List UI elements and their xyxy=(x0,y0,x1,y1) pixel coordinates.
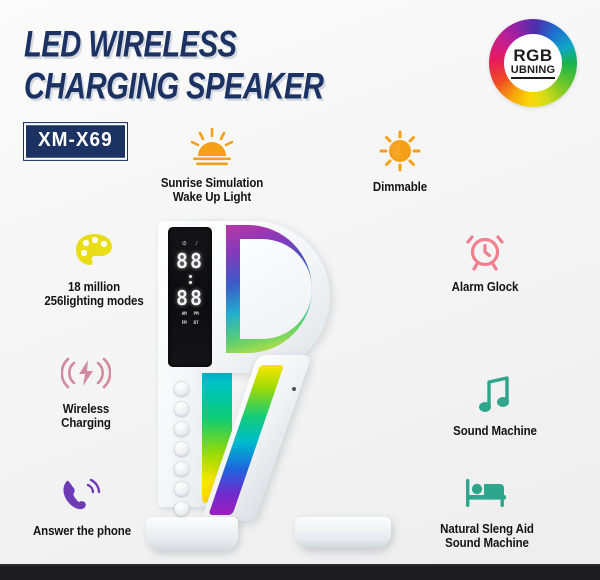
led-top-indicator-row: ⏻ ♪ xyxy=(182,241,197,247)
feature-answer-phone: Answer the phone xyxy=(7,472,157,538)
alarm-clock-icon xyxy=(410,228,560,274)
music-icon: ♪ xyxy=(195,241,198,247)
rgb-logo-inner: RGB UBNING xyxy=(504,34,562,92)
feature-sleep-aid: Natural Sleng Aid Sound Machine xyxy=(412,470,562,550)
led-source-row: FM BT xyxy=(182,321,199,326)
r-stem-foot xyxy=(146,517,238,551)
palette-icon xyxy=(19,228,169,274)
bt-indicator: BT xyxy=(194,321,199,326)
power-icon: ⏻ xyxy=(182,241,186,247)
bottom-bar xyxy=(0,566,600,580)
fm-indicator: FM xyxy=(182,321,187,326)
led-colon xyxy=(189,275,192,284)
led-hour-digits: 88 xyxy=(176,251,204,271)
feature-sleep-label-2: Sound Machine xyxy=(412,536,562,552)
wireless-charging-icon xyxy=(11,350,161,396)
phone-ringing-icon xyxy=(7,472,157,518)
product-button-2[interactable] xyxy=(174,401,189,416)
brightness-icon xyxy=(325,128,475,174)
feature-sound-label-1: Sound Machine xyxy=(420,424,570,440)
product-button-3[interactable] xyxy=(174,421,189,436)
feature-modes-label-2: 256lighting modes xyxy=(19,294,169,310)
product-button-1[interactable] xyxy=(174,381,189,396)
feature-lighting-modes: 18 million 256lighting modes xyxy=(19,228,169,308)
microphone-dot xyxy=(292,387,296,391)
am-indicator: AM xyxy=(182,312,187,317)
r-leg-foot xyxy=(295,517,391,549)
product-poster: LED WIRELESS CHARGING SPEAKER XM-X69 RGB… xyxy=(0,0,600,580)
bed-icon xyxy=(412,470,562,516)
led-colon-dot-top xyxy=(189,275,192,278)
led-colon-dot-bottom xyxy=(189,281,192,284)
product-button-7[interactable] xyxy=(174,501,189,516)
feature-phone-label-1: Answer the phone xyxy=(7,524,157,540)
feature-wireless-label-2: Charging xyxy=(11,416,161,432)
feature-sunrise-label-2: Wake Up Light xyxy=(137,190,287,206)
feature-alarm-clock: Alarm Glock xyxy=(410,228,560,294)
feature-dimmable: Dimmable xyxy=(325,128,475,194)
music-note-icon xyxy=(420,372,570,418)
feature-sunrise: Sunrise Simulation Wake Up Light xyxy=(137,124,287,204)
rgb-brand-logo: RGB UBNING xyxy=(489,19,577,107)
page-title-line2: CHARGING SPEAKER xyxy=(24,68,412,107)
product-button-column xyxy=(174,381,189,516)
led-minute-digits: 88 xyxy=(176,288,204,308)
feature-dimmable-label-1: Dimmable xyxy=(325,180,475,196)
led-ampm-row: AM PM xyxy=(182,312,199,317)
feature-alarm-label-1: Alarm Glock xyxy=(410,280,560,296)
product-button-4[interactable] xyxy=(174,441,189,456)
feature-sound-machine: Sound Machine xyxy=(420,372,570,438)
rgb-logo-main-text: RGB xyxy=(513,47,552,64)
feature-wireless-charging: Wireless Charging xyxy=(11,350,161,430)
model-badge: XM-X69 xyxy=(24,123,127,160)
led-display-panel: ⏻ ♪ 88 88 AM PM FM BT xyxy=(168,227,212,367)
pm-indicator: PM xyxy=(194,312,199,317)
product-button-6[interactable] xyxy=(174,481,189,496)
product-button-5[interactable] xyxy=(174,461,189,476)
rgb-logo-sub-text: UBNING xyxy=(511,65,556,79)
sunrise-icon xyxy=(137,124,287,170)
page-title-line1: LED WIRELESS xyxy=(24,26,412,65)
